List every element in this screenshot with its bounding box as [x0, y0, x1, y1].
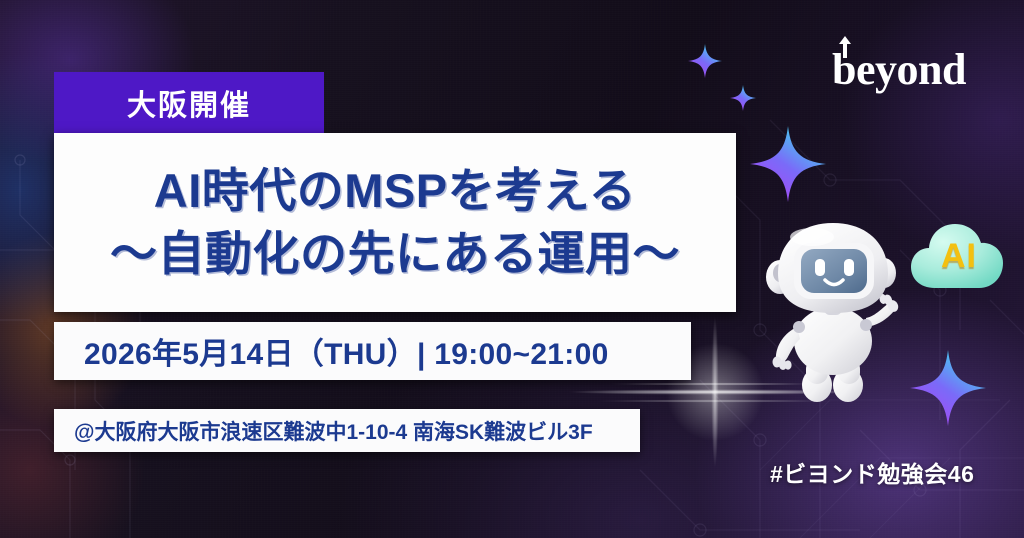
event-hashtag: #ビヨンド勉強会46: [770, 455, 974, 489]
page-title-line-2: 〜自動化の先にある運用〜: [110, 223, 680, 285]
event-banner: beyond 大阪開催 AI時代のMSPを考える 〜自動化の先にある運用〜 20…: [0, 0, 1024, 538]
beyond-logo[interactable]: beyond: [832, 48, 966, 92]
sparkle-large-bottom: [910, 350, 986, 426]
up-arrow-icon: [838, 36, 852, 58]
sparkle-small-top: [688, 44, 722, 78]
page-title-line-1: AI時代のMSPを考える: [154, 160, 636, 222]
sparkle-large-left: [750, 126, 826, 202]
event-address: @大阪府大阪市浪速区難波中1-10-4 南海SK難波ビル3F: [54, 416, 593, 446]
title-box: AI時代のMSPを考える 〜自動化の先にある運用〜: [54, 133, 736, 312]
event-datetime: 2026年5月14日（THU）| 19:00~21:00: [54, 329, 609, 373]
ai-cloud-bubble: AI: [903, 212, 1015, 304]
location-badge-label: 大阪開催: [127, 82, 251, 124]
ai-cloud-label: AI: [903, 212, 1015, 304]
date-box: 2026年5月14日（THU）| 19:00~21:00: [54, 322, 691, 380]
location-badge: 大阪開催: [54, 72, 324, 133]
address-box: @大阪府大阪市浪速区難波中1-10-4 南海SK難波ビル3F: [54, 409, 640, 452]
sparkle-tiny-mid: [730, 85, 756, 111]
beyond-logo-text: beyond: [832, 48, 966, 92]
ai-robot-mascot: [760, 215, 910, 405]
